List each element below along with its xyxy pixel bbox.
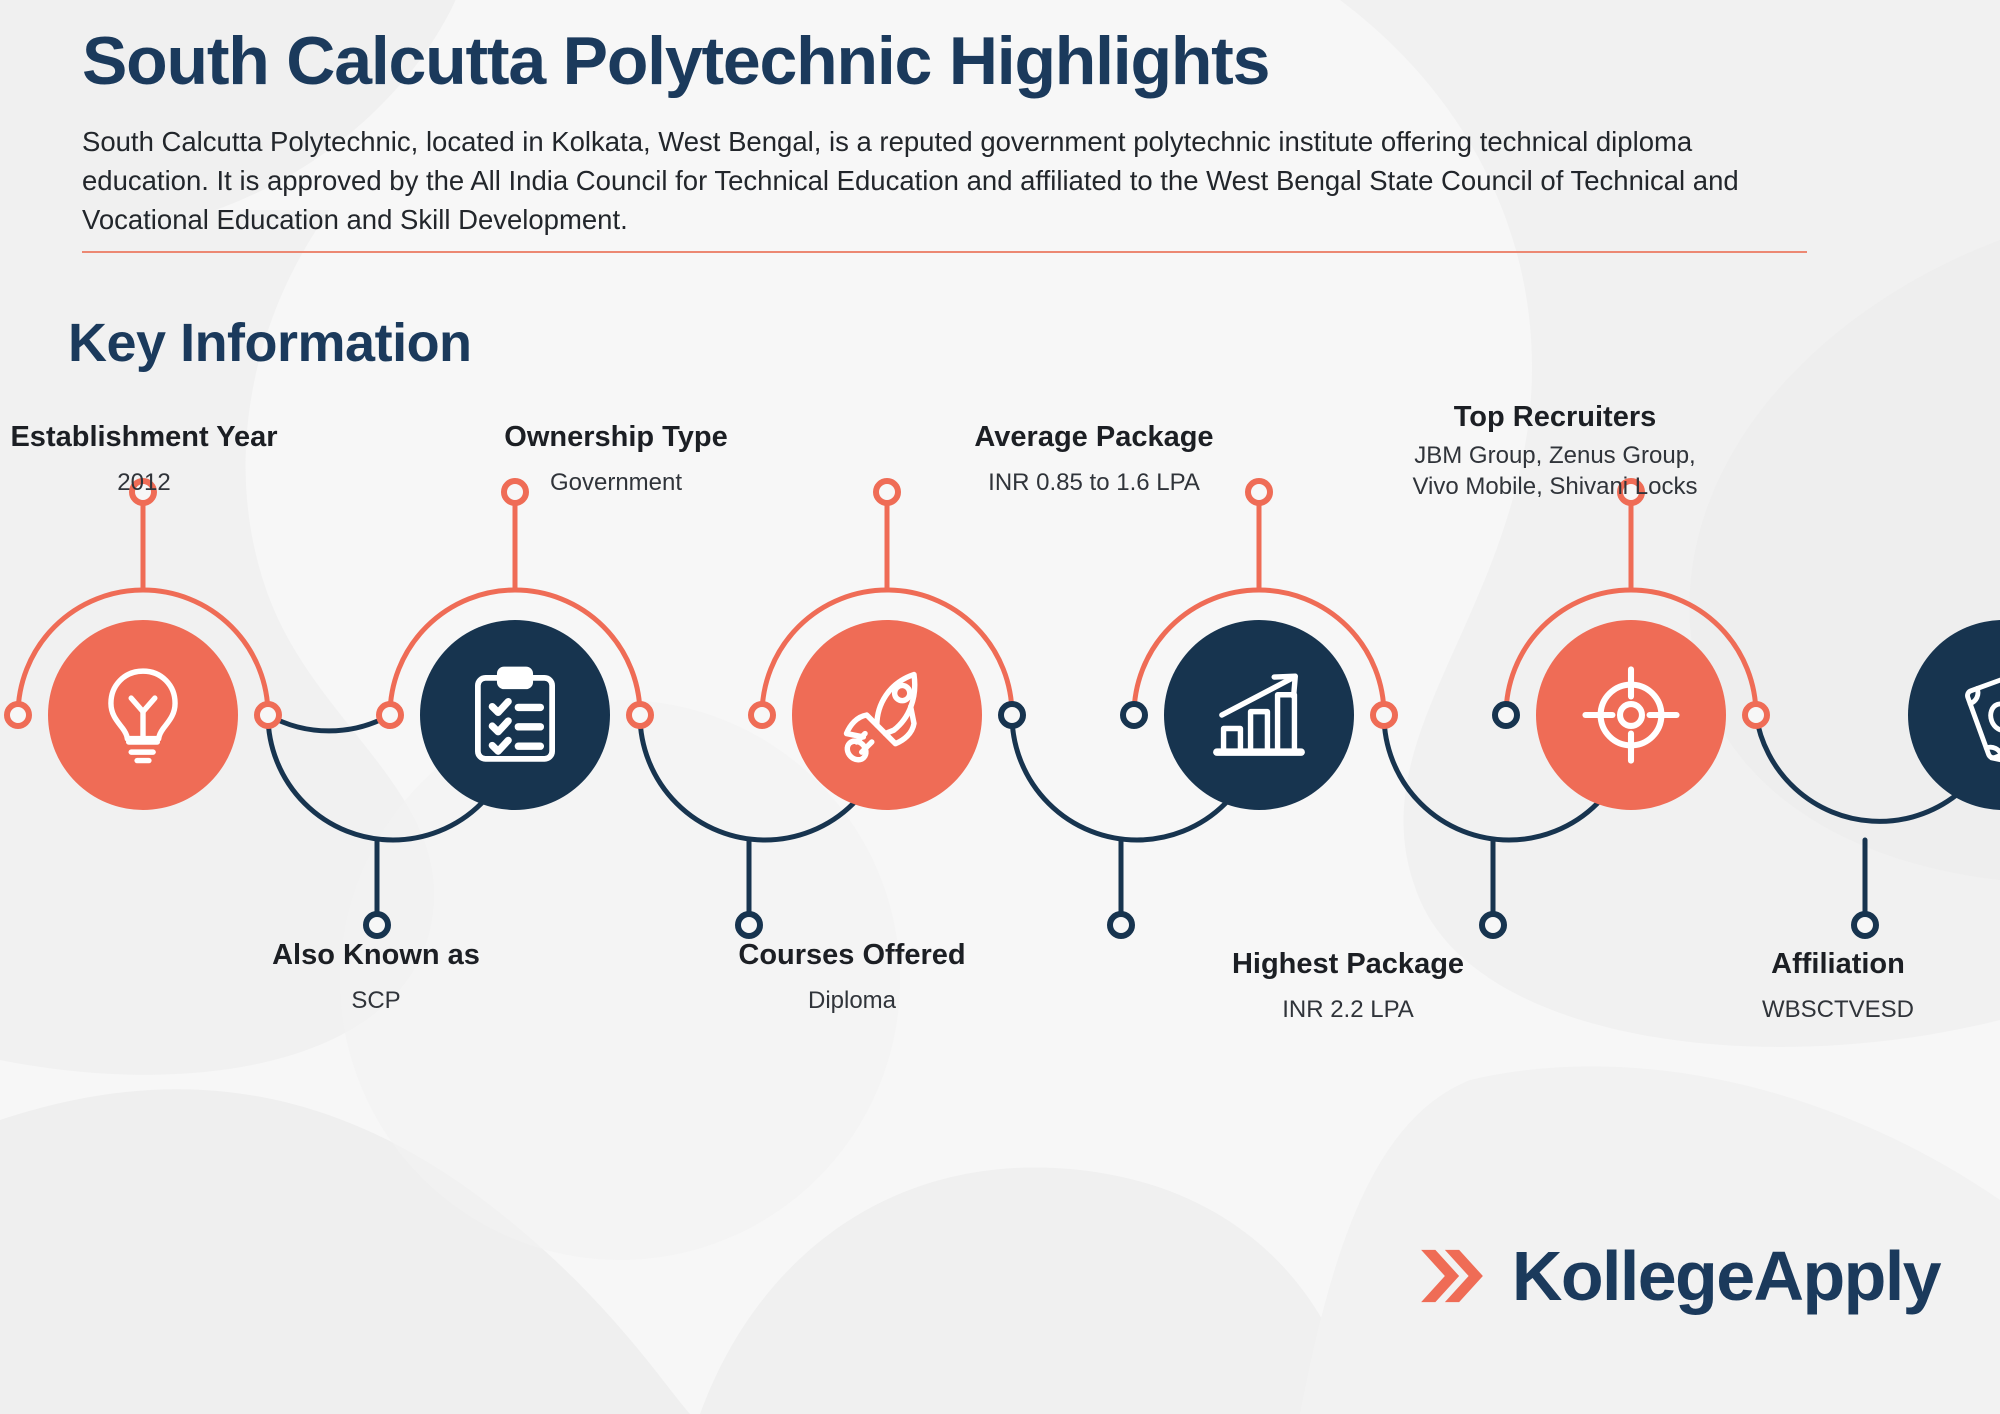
node-also-known-as[interactable] xyxy=(420,620,610,810)
label-value: WBSCTVESD xyxy=(1628,994,2000,1025)
node-average-package[interactable] xyxy=(1536,620,1726,810)
brand-logo-text: KollegeApply xyxy=(1512,1241,1940,1311)
label-ownership-type: Ownership Type Government xyxy=(406,420,826,498)
ring-dot-navy xyxy=(1001,704,1023,726)
node-establishment-year[interactable] xyxy=(48,620,238,810)
label-top-recruiters: Top Recruiters JBM Group, Zenus Group, V… xyxy=(1390,400,1720,503)
label-title: Top Recruiters xyxy=(1390,400,1720,434)
ring-dot-navy-bottom xyxy=(1854,914,1876,936)
ring-dot-navy-bottom xyxy=(1482,914,1504,936)
label-value: Diploma xyxy=(642,985,1062,1016)
ring-dot-navy xyxy=(1495,704,1517,726)
ring-dot-coral xyxy=(751,704,773,726)
label-courses-offered: Courses Offered Diploma xyxy=(642,938,1062,1016)
ring-dot-coral xyxy=(379,704,401,726)
label-title: Affiliation xyxy=(1628,947,2000,981)
ring-dot-navy-bottom xyxy=(738,914,760,936)
label-affiliation: Affiliation WBSCTVESD xyxy=(1628,947,2000,1025)
rocket-icon xyxy=(833,661,941,769)
lightbulb-icon xyxy=(89,661,197,769)
label-value: 2012 xyxy=(0,467,354,498)
node-ownership-type[interactable] xyxy=(792,620,982,810)
label-title: Average Package xyxy=(884,420,1304,454)
ring-dot-coral xyxy=(629,704,651,726)
node-courses-offered[interactable] xyxy=(1164,620,1354,810)
label-average-package: Average Package INR 0.85 to 1.6 LPA xyxy=(884,420,1304,498)
label-value: INR 2.2 LPA xyxy=(1138,994,1558,1025)
label-title: Establishment Year xyxy=(0,420,354,454)
page-title: South Calcutta Polytechnic Highlights xyxy=(82,22,1912,100)
bar-chart-icon xyxy=(1205,661,1313,769)
page-description: South Calcutta Polytechnic, located in K… xyxy=(82,122,1812,239)
label-also-known-as: Also Known as SCP xyxy=(166,938,586,1016)
ring-dot-coral xyxy=(1745,704,1767,726)
double-chevron-icon xyxy=(1414,1238,1490,1314)
ring-dot-coral xyxy=(7,704,29,726)
ring-dot-navy-bottom xyxy=(366,914,388,936)
label-value: INR 0.85 to 1.6 LPA xyxy=(884,467,1304,498)
clipboard-icon xyxy=(461,661,569,769)
label-title: Highest Package xyxy=(1138,947,1558,981)
header: South Calcutta Polytechnic Highlights So… xyxy=(82,22,1912,253)
label-highest-package: Highest Package INR 2.2 LPA xyxy=(1138,947,1558,1025)
arc-navy-0 xyxy=(268,715,390,731)
ring-dot-coral xyxy=(1373,704,1395,726)
label-value: SCP xyxy=(166,985,586,1016)
label-title: Also Known as xyxy=(166,938,586,972)
ring-dot-navy-bottom xyxy=(1110,914,1132,936)
ring-dot-coral xyxy=(257,704,279,726)
header-divider xyxy=(82,251,1807,253)
brand-logo[interactable]: KollegeApply xyxy=(1414,1238,1940,1314)
label-title: Courses Offered xyxy=(642,938,1062,972)
ring-dot-navy xyxy=(1123,704,1145,726)
label-establishment-year: Establishment Year 2012 xyxy=(0,420,354,498)
label-title: Ownership Type xyxy=(406,420,826,454)
infographic-page: South Calcutta Polytechnic Highlights So… xyxy=(0,0,2000,1414)
section-heading-key-information: Key Information xyxy=(68,312,472,374)
label-value: JBM Group, Zenus Group, Vivo Mobile, Shi… xyxy=(1390,440,1720,502)
target-icon xyxy=(1577,661,1685,769)
label-value: Government xyxy=(406,467,826,498)
money-icon xyxy=(1949,661,2000,769)
